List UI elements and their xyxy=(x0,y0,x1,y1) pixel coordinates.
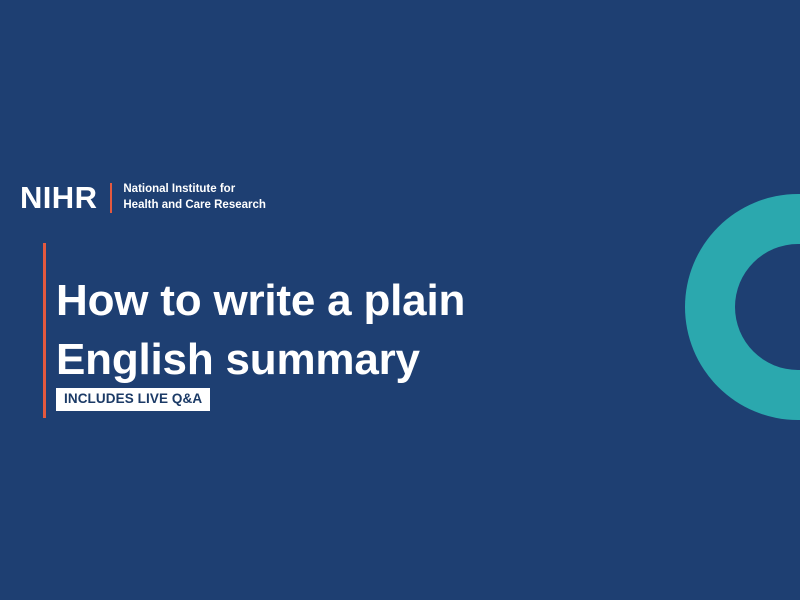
nihr-wordmark: NIHR xyxy=(20,182,97,213)
nihr-logo: NIHR National Institute for Health and C… xyxy=(20,182,266,213)
nihr-full-name: National Institute for Health and Care R… xyxy=(123,182,266,213)
status-badge: INCLUDES LIVE Q&A xyxy=(56,388,210,411)
teal-ring-outer-circle xyxy=(685,194,800,420)
logo-divider-rule xyxy=(110,183,112,213)
headline-accent-rule xyxy=(43,243,46,418)
page-title-line-1: How to write a plain xyxy=(56,272,465,330)
page-title: How to write a plain English summary xyxy=(56,272,465,388)
teal-ring-graphic xyxy=(685,194,800,420)
teal-ring-inner-hole xyxy=(735,244,800,370)
page-title-line-2: English summary xyxy=(56,331,465,389)
title-slide: NIHR National Institute for Health and C… xyxy=(0,0,800,600)
nihr-full-name-line-1: National Institute for xyxy=(123,183,235,195)
nihr-full-name-line-2: Health and Care Research xyxy=(123,199,266,211)
